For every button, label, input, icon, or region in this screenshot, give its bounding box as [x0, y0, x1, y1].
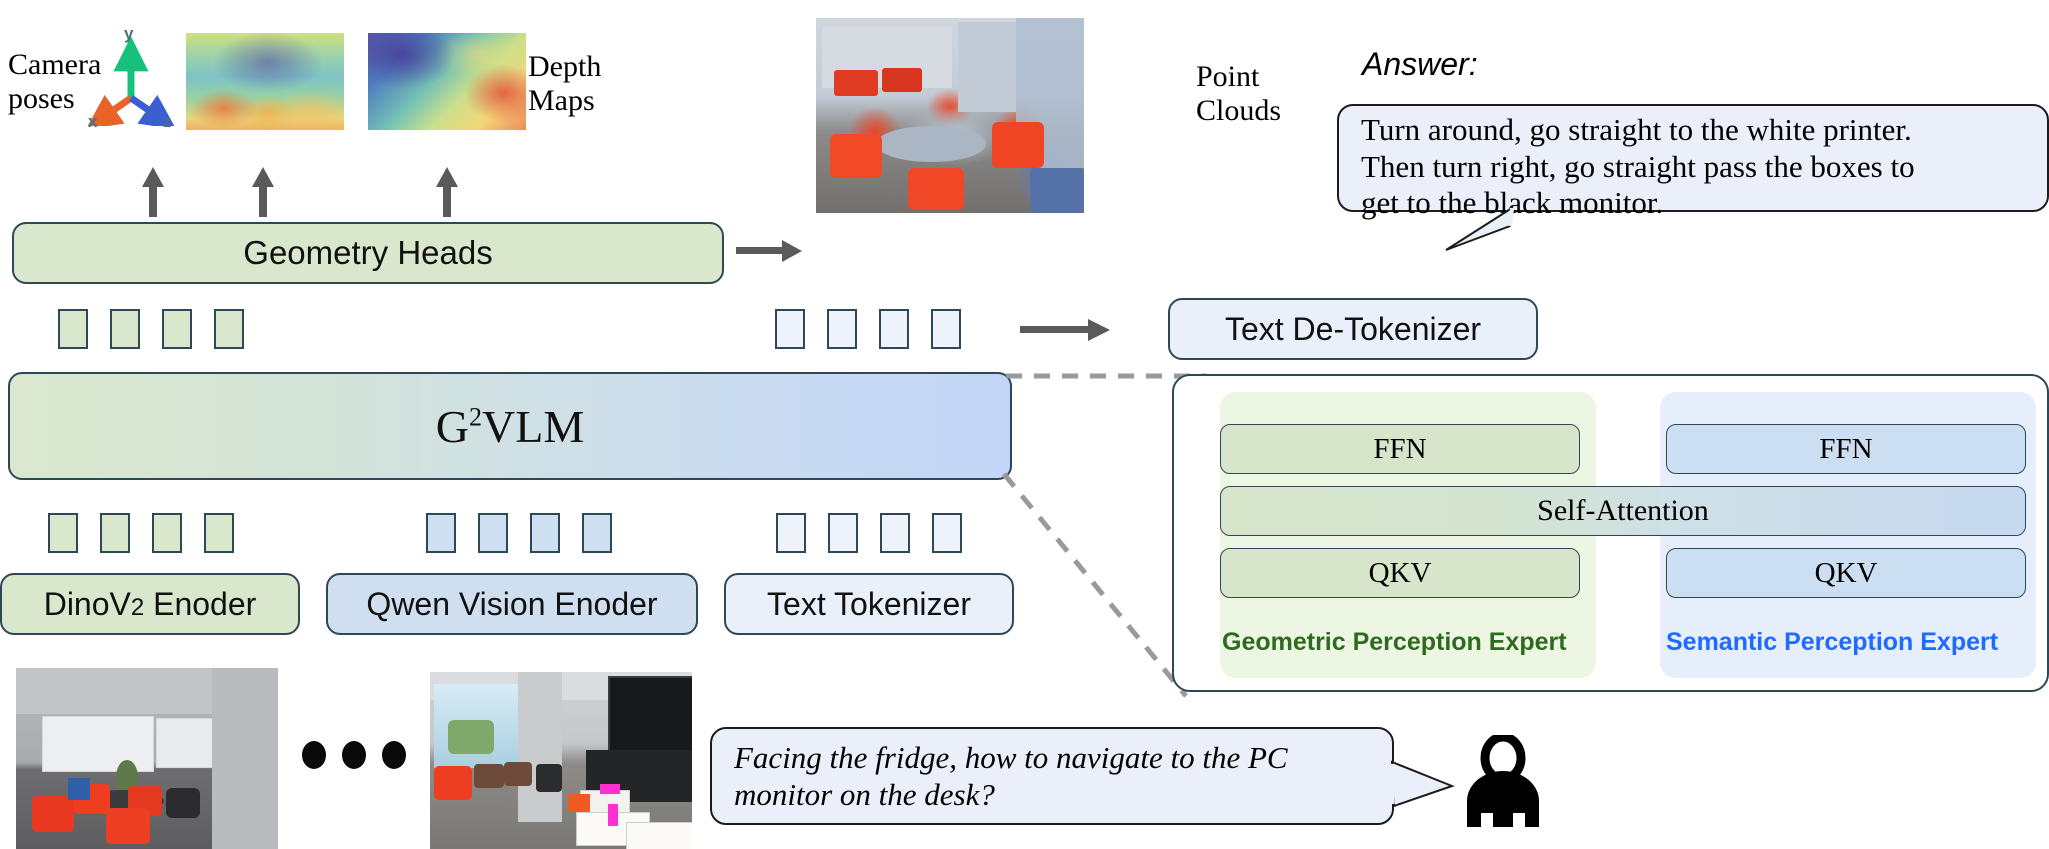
text-tokenizer-box[interactable]: Text Tokenizer [724, 573, 1014, 635]
token-qwen-2 [478, 513, 508, 553]
text-detokenizer-label: Text De-Tokenizer [1225, 311, 1481, 348]
geometry-heads-label: Geometry Heads [243, 234, 492, 272]
token-geometry-out-2 [110, 309, 140, 349]
g2vlm-label-rest: VLM [482, 401, 584, 452]
token-qwen-3 [530, 513, 560, 553]
question-line-2: monitor on the desk? [734, 776, 1380, 813]
token-text-1 [776, 513, 806, 553]
token-text-out-3 [879, 309, 909, 349]
axis-z-label: z [163, 112, 172, 132]
semantic-ffn-label: FFN [1819, 433, 1872, 466]
qwen-vision-encoder-box[interactable]: Qwen Vision Enoder [326, 573, 698, 635]
geometric-ffn-label: FFN [1373, 433, 1426, 466]
question-line-1: Facing the fridge, how to navigate to th… [734, 739, 1380, 776]
dinov2-encoder-label: DinoV2 Enoder [44, 586, 257, 623]
axis-y-label: y [124, 24, 133, 44]
input-image-2 [430, 672, 692, 849]
point-clouds-label: Point Clouds [1196, 60, 1316, 127]
arrow-up-depth-map-1 [250, 167, 276, 217]
qwen-vision-encoder-label: Qwen Vision Enoder [366, 586, 657, 623]
input-image-1 [16, 668, 278, 849]
semantic-qkv-block[interactable]: QKV [1666, 548, 2026, 598]
self-attention-label: Self-Attention [1537, 494, 1709, 528]
text-tokenizer-label: Text Tokenizer [767, 586, 971, 623]
dinov2-encoder-label-main: DinoV [44, 586, 131, 622]
token-dino-2 [100, 513, 130, 553]
text-detokenizer-box[interactable]: Text De-Tokenizer [1168, 298, 1538, 360]
depth-map-2 [368, 33, 526, 130]
g2vlm-label-base: G [436, 401, 469, 452]
dinov2-encoder-label-sub: 2 [131, 594, 144, 621]
question-bubble-text: Facing the fridge, how to navigate to th… [734, 739, 1380, 813]
expert-panel: FFN FFN Self-Attention QKV QKV Geometric… [1172, 374, 2049, 692]
token-qwen-1 [426, 513, 456, 553]
axis-x-label: x [88, 112, 97, 132]
depth-maps-label-line2: Maps [528, 84, 638, 118]
token-text-out-1 [775, 309, 805, 349]
depth-maps-label-line1: Depth [528, 50, 638, 84]
arrow-tokens-to-detokenizer [1020, 318, 1110, 342]
arrow-up-depth-map-2 [434, 167, 460, 217]
geometric-qkv-label: QKV [1369, 557, 1432, 590]
answer-bubble: Turn around, go straight to the white pr… [1337, 104, 2049, 212]
token-text-out-4 [931, 309, 961, 349]
token-text-4 [932, 513, 962, 553]
token-dino-1 [48, 513, 78, 553]
geometric-expert-caption: Geometric Perception Expert [1222, 628, 1594, 657]
geometric-qkv-block[interactable]: QKV [1220, 548, 1580, 598]
ellipsis-dots [300, 740, 410, 770]
dinov2-encoder-box[interactable]: DinoV2 Enoder [0, 573, 300, 635]
token-geometry-out-3 [162, 309, 192, 349]
token-dino-4 [204, 513, 234, 553]
question-bubble-tail [1390, 760, 1456, 808]
semantic-expert-caption: Semantic Perception Expert [1666, 628, 2038, 657]
answer-bubble-tail [1440, 206, 1520, 252]
geometric-ffn-block[interactable]: FFN [1220, 424, 1580, 474]
dinov2-encoder-label-tail: Enoder [144, 586, 256, 622]
token-geometry-out-1 [58, 309, 88, 349]
token-qwen-4 [582, 513, 612, 553]
depth-maps-label: Depth Maps [528, 50, 638, 117]
token-dino-3 [152, 513, 182, 553]
question-bubble: Facing the fridge, how to navigate to th… [710, 727, 1394, 825]
point-clouds-label-line1: Point [1196, 60, 1316, 94]
geometry-heads-box[interactable]: Geometry Heads [12, 222, 724, 284]
g2vlm-label-sup: 2 [469, 402, 482, 431]
token-text-3 [880, 513, 910, 553]
dashed-connector-bottom [1000, 470, 1190, 700]
token-geometry-out-4 [214, 309, 244, 349]
answer-line-1: Turn around, go straight to the white pr… [1361, 112, 2041, 149]
point-clouds-label-line2: Clouds [1196, 94, 1316, 128]
point-cloud-image [816, 18, 1084, 213]
semantic-qkv-label: QKV [1815, 557, 1878, 590]
answer-label: Answer: [1362, 46, 1478, 83]
token-text-2 [828, 513, 858, 553]
token-text-out-2 [827, 309, 857, 349]
arrow-up-camera-poses [140, 167, 166, 217]
answer-line-2: Then turn right, go straight pass the bo… [1361, 149, 2041, 186]
self-attention-block[interactable]: Self-Attention [1220, 486, 2026, 536]
g2vlm-label: G2VLM [436, 400, 584, 453]
g2vlm-box[interactable]: G2VLM [8, 372, 1012, 480]
user-icon [1455, 735, 1551, 831]
arrow-geometry-to-pointcloud [736, 238, 802, 264]
depth-map-1 [186, 33, 344, 130]
semantic-ffn-block[interactable]: FFN [1666, 424, 2026, 474]
